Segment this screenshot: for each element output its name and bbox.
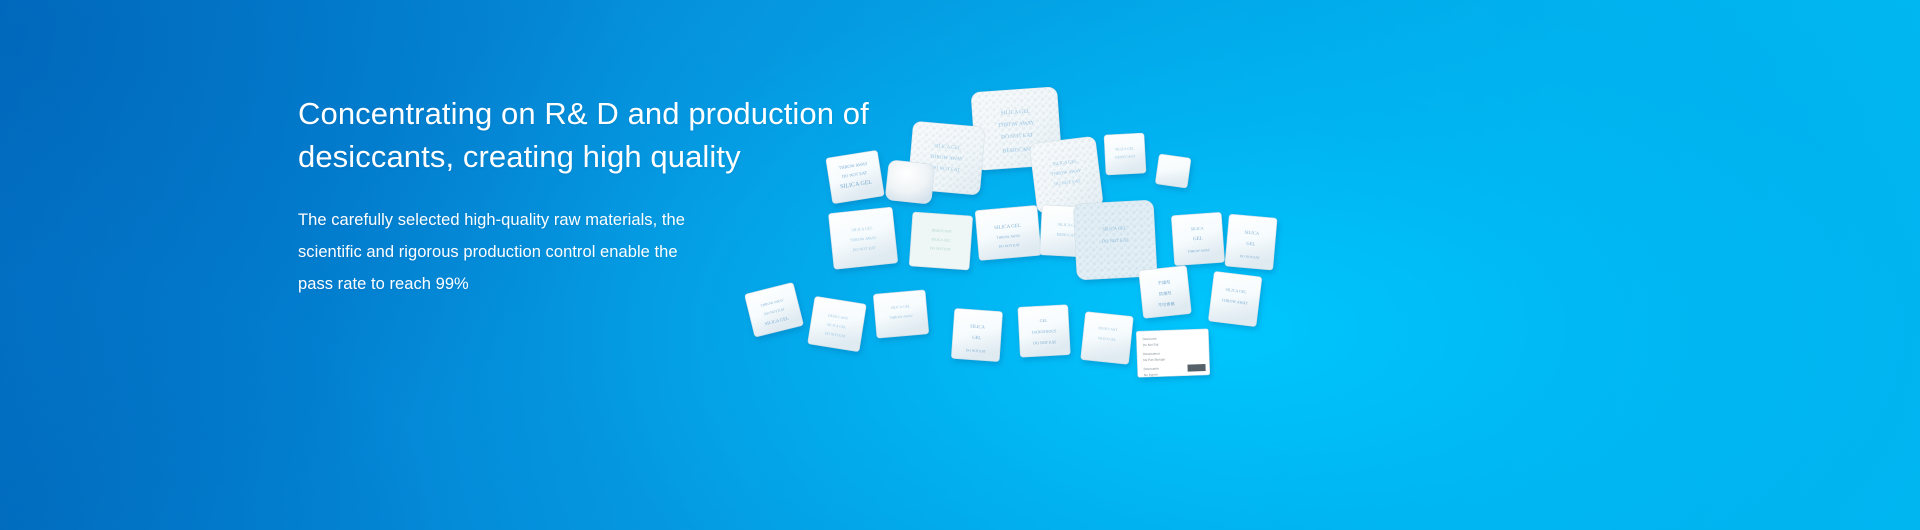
hero-subtext: The carefully selected high-quality raw … bbox=[298, 204, 958, 300]
svg-text:Desiccant: Desiccant bbox=[1142, 337, 1156, 341]
svg-text:Ne Pas Manger: Ne Pas Manger bbox=[1143, 357, 1166, 362]
page-title: Concentrating on R& D and production of … bbox=[298, 92, 958, 178]
svg-text:Desecante: Desecante bbox=[1144, 367, 1160, 372]
svg-text:No Ingerir: No Ingerir bbox=[1144, 373, 1159, 378]
hero-banner: SILICA GEL THROW AWAY DO NOT EAT DESICCA… bbox=[0, 0, 1920, 530]
svg-text:GEL: GEL bbox=[1039, 318, 1048, 323]
svg-text:Do Not Eat: Do Not Eat bbox=[1143, 343, 1159, 348]
svg-text:GEL: GEL bbox=[1246, 241, 1256, 247]
svg-text:Dessicateur: Dessicateur bbox=[1143, 351, 1161, 356]
svg-text:SILICA: SILICA bbox=[1191, 226, 1204, 232]
hero-text-block: Concentrating on R& D and production of … bbox=[298, 92, 958, 300]
svg-text:GEL: GEL bbox=[1193, 237, 1203, 243]
svg-text:GEL: GEL bbox=[972, 335, 981, 341]
